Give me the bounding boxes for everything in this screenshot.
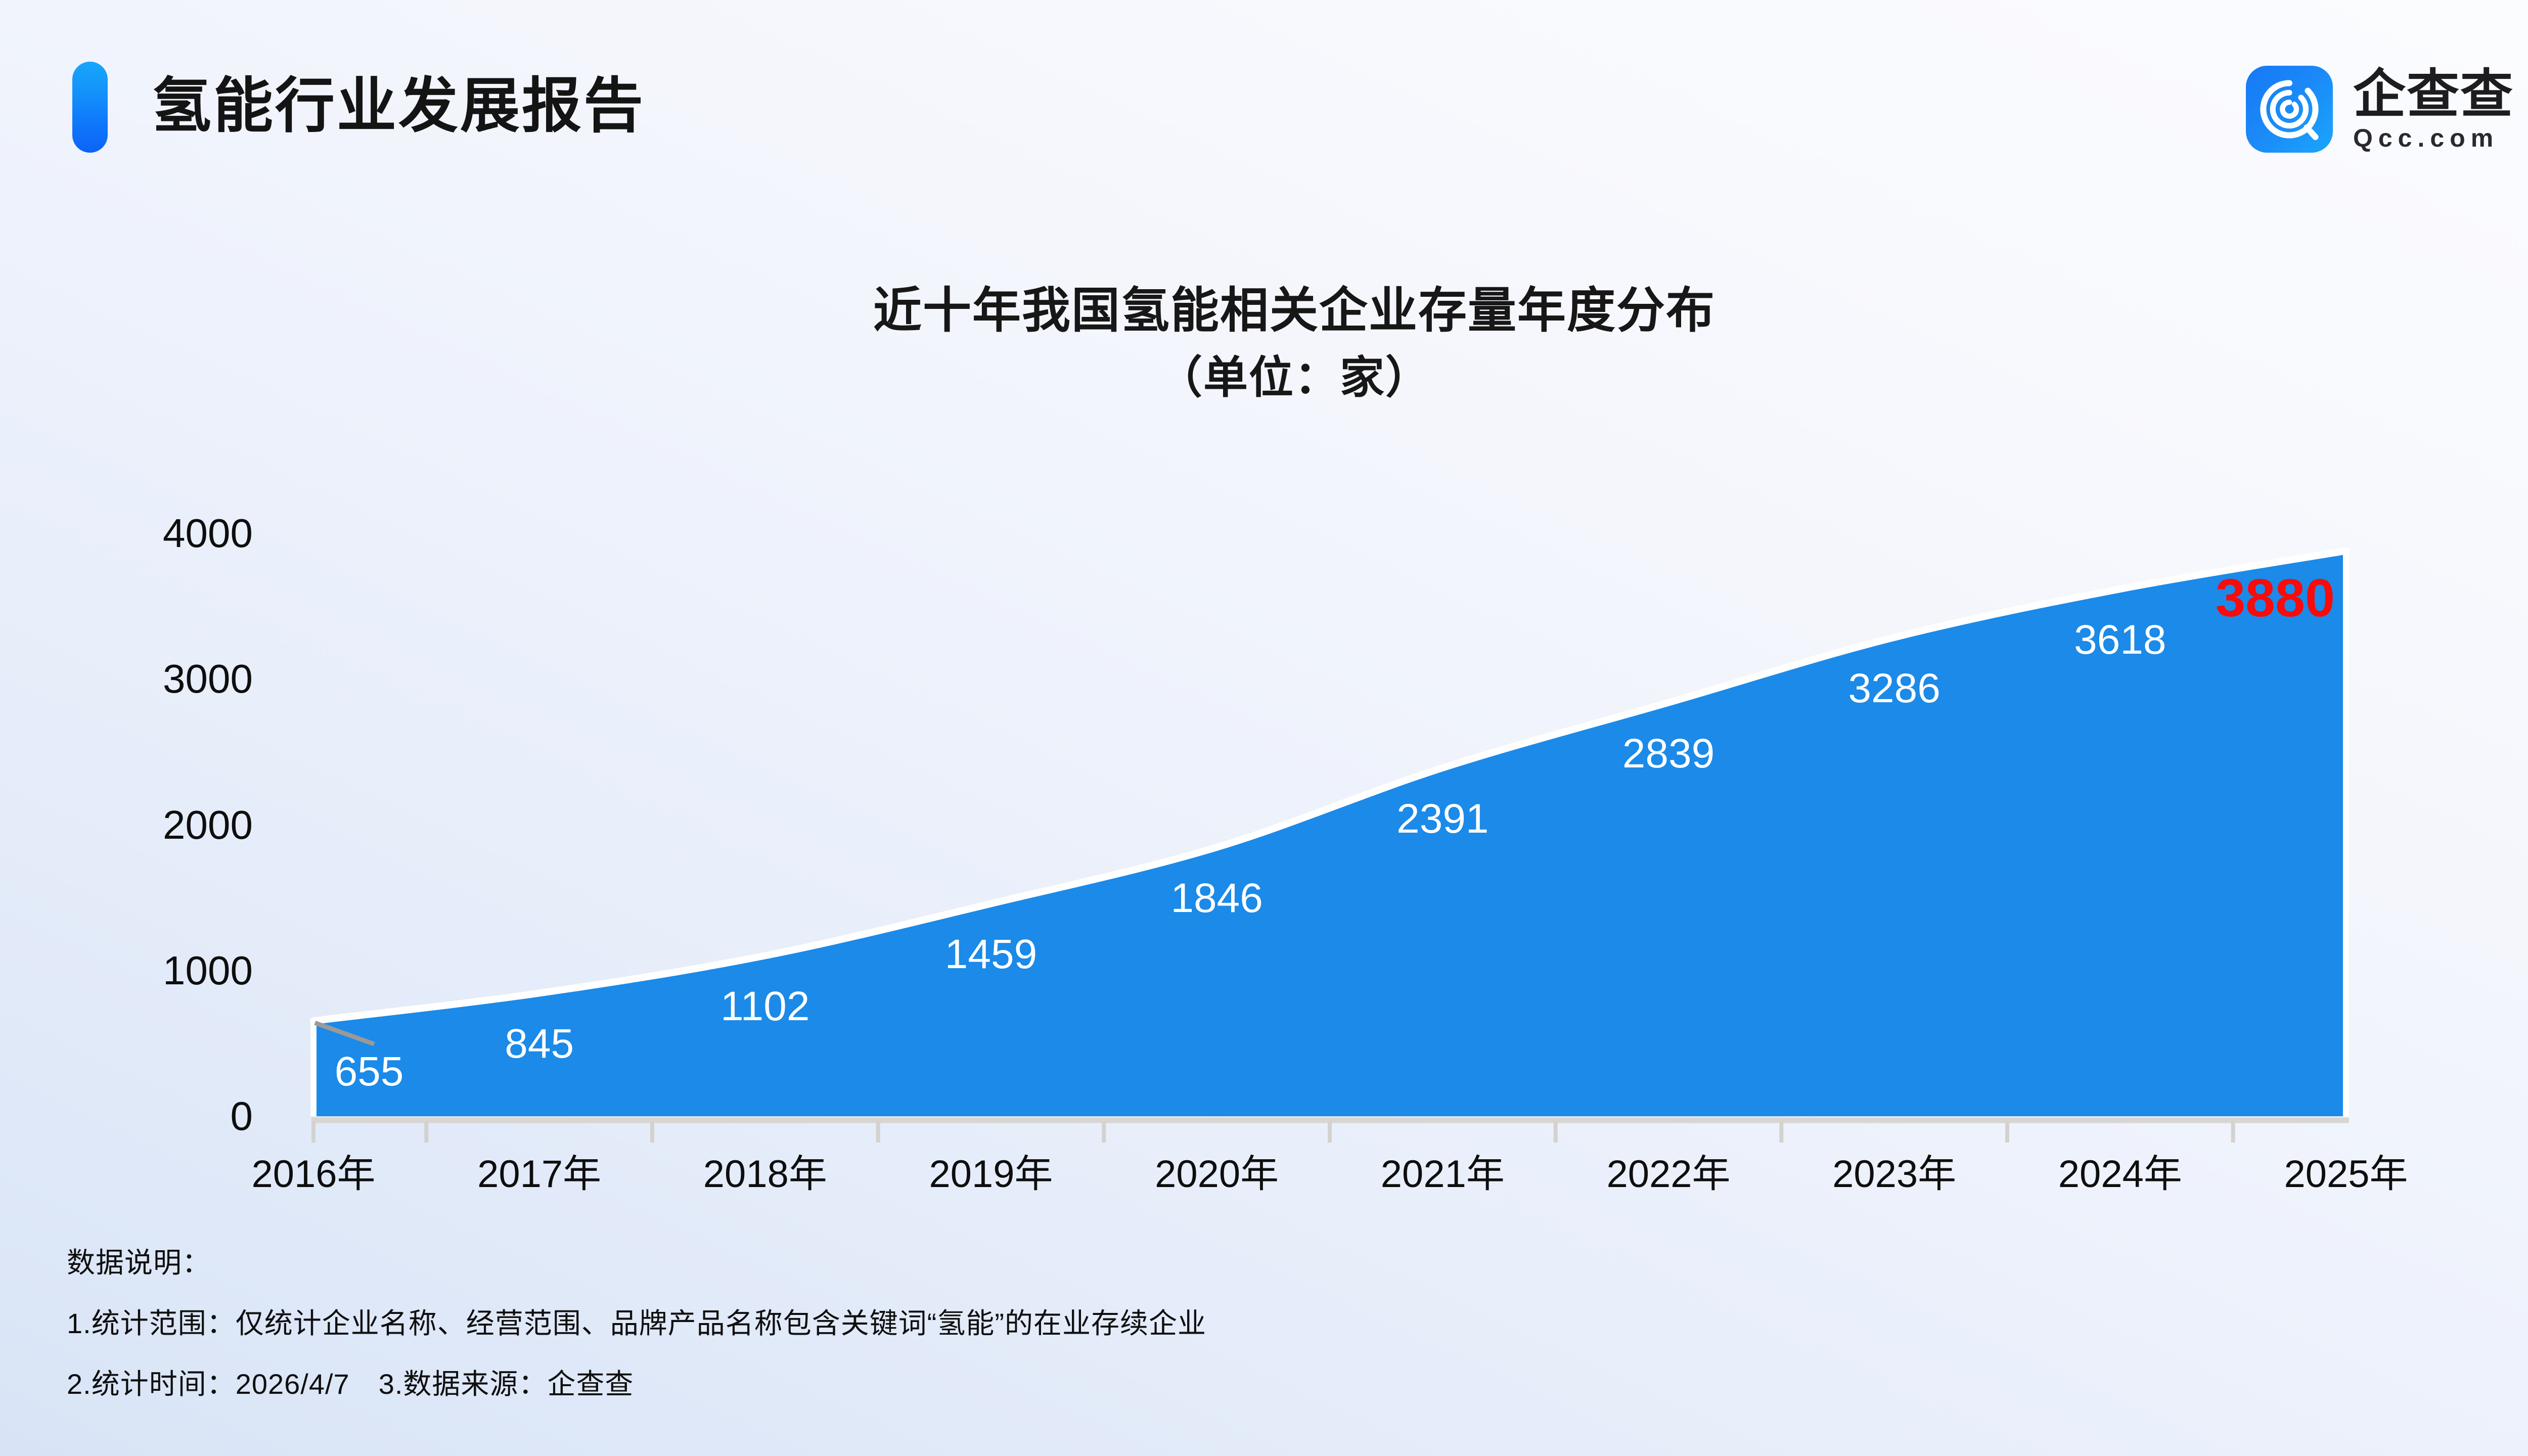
page-title: 氢能行业发展报告	[152, 56, 645, 157]
x-axis-tick-label: 2025年	[2240, 1155, 2452, 1194]
data-label: 1102	[659, 986, 871, 1027]
x-axis-tick-label: 2023年	[1788, 1155, 2001, 1194]
y-axis-tick-label: 0	[30, 1096, 253, 1136]
y-axis-tick-label: 2000	[30, 805, 253, 845]
title-accent-bar	[72, 62, 108, 153]
data-notes: 数据说明： 1.统计范围：仅统计企业名称、经营范围、品牌产品名称包含关键词“氢能…	[67, 1249, 2392, 1398]
data-label: 2839	[1562, 733, 1775, 775]
x-axis-tick-label: 2017年	[433, 1155, 646, 1194]
note-scope: 1.统计范围：仅统计企业名称、经营范围、品牌产品名称包含关键词“氢能”的在业存续…	[67, 1309, 2392, 1338]
qcc-spiral-q-icon	[2246, 66, 2333, 153]
brand-name-en: Qcc.com	[2353, 124, 2514, 152]
x-axis-tick-label: 2022年	[1562, 1155, 1775, 1194]
origin-leader-line	[315, 1023, 374, 1044]
brand-name-cn: 企查查	[2353, 66, 2514, 123]
area-chart	[0, 0, 2528, 1456]
data-label: 3286	[1788, 668, 2001, 709]
data-label: 2391	[1336, 798, 1549, 840]
x-axis-tick-label: 2020年	[1111, 1155, 1323, 1194]
data-label: 1846	[1111, 878, 1323, 919]
area-chart-svg	[0, 0, 2528, 1456]
y-axis-tick-label: 3000	[30, 659, 253, 699]
data-label: 3618	[2014, 619, 2226, 661]
chart-title: 近十年我国氢能相关企业存量年度分布	[0, 271, 2528, 341]
x-axis-tick-label: 2021年	[1336, 1155, 1549, 1194]
brand-logo[interactable]: 企查查 Qcc.com	[2246, 66, 2514, 153]
data-label-highlight: 3880	[2169, 577, 2381, 619]
x-axis-tick-label: 2024年	[2014, 1155, 2226, 1194]
brand-logo-text: 企查查 Qcc.com	[2353, 66, 2514, 152]
note-time-source: 2.统计时间：2026/4/7 3.数据来源：企查查	[67, 1370, 2392, 1398]
y-axis-tick-label: 1000	[30, 950, 253, 991]
x-axis-tick-label: 2016年	[207, 1155, 420, 1194]
x-axis-tick-label: 2018年	[659, 1155, 871, 1194]
report-page: 氢能行业发展报告 企查查 Qcc.com 近十年我国氢能相关企业存量年度分布 （…	[0, 0, 2528, 1456]
data-label: 1459	[885, 934, 1097, 975]
y-axis-tick-label: 4000	[30, 513, 253, 554]
chart-subtitle: （单位：家）	[0, 342, 2528, 406]
x-axis-tick-label: 2019年	[885, 1155, 1097, 1194]
note-heading: 数据说明：	[67, 1249, 2392, 1277]
report-header: 氢能行业发展报告 企查查 Qcc.com	[0, 0, 2528, 217]
data-label: 845	[433, 1023, 646, 1065]
